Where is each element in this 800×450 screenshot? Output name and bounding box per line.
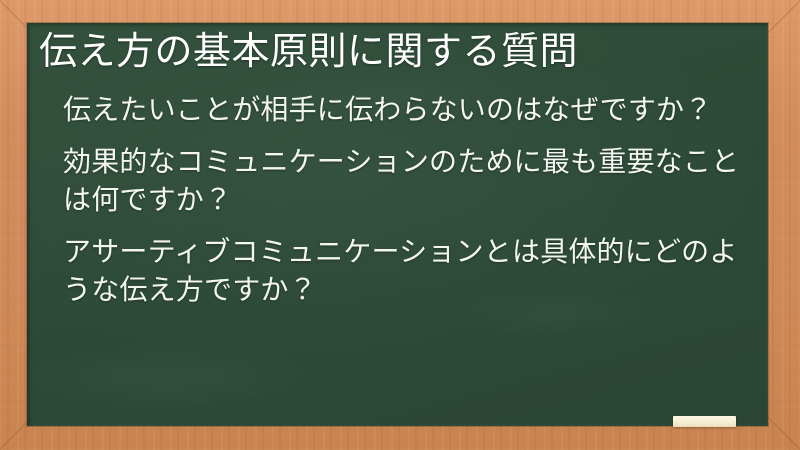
- list-item: 伝えたいことが相手に伝わらないのはなぜですか？: [63, 91, 746, 129]
- chalk-stick-icon: [673, 416, 736, 427]
- list-item: 効果的なコミュニケーションのために最も重要なことは何ですか？: [63, 143, 746, 219]
- board-content: 伝え方の基本原則に関する質問 伝えたいことが相手に伝わらないのはなぜですか？ 効…: [27, 23, 768, 426]
- list-item: アサーティブコミュニケーションとは具体的にどのような伝え方ですか？: [63, 233, 746, 309]
- page-title: 伝え方の基本原則に関する質問: [33, 29, 746, 77]
- blackboard-slide: 伝え方の基本原則に関する質問 伝えたいことが相手に伝わらないのはなぜですか？ 効…: [0, 0, 800, 450]
- blackboard-surface: 伝え方の基本原則に関する質問 伝えたいことが相手に伝わらないのはなぜですか？ 効…: [27, 23, 768, 426]
- question-list: 伝えたいことが相手に伝わらないのはなぜですか？ 効果的なコミュニケーションのため…: [33, 91, 746, 309]
